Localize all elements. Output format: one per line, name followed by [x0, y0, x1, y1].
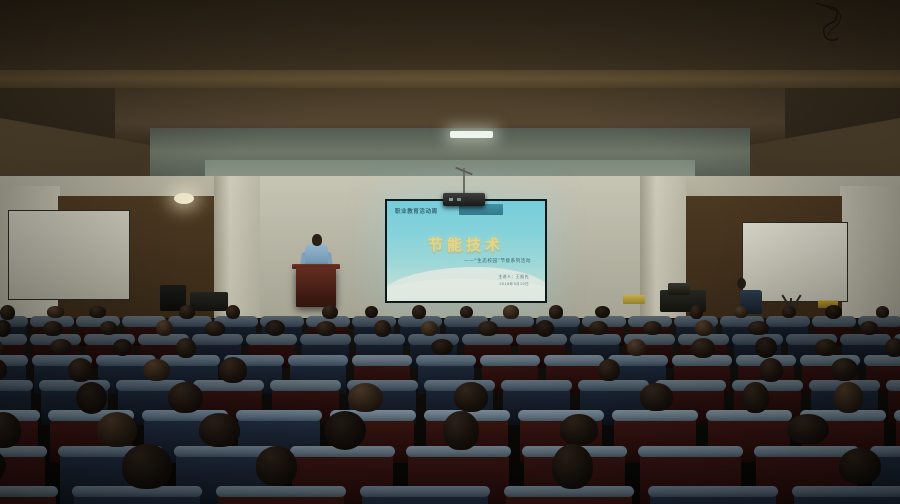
- audience-member-head: [759, 358, 783, 383]
- fluorescent-tube-icon: [450, 131, 493, 138]
- audience-member-head: [205, 321, 226, 336]
- audience-member-head: [219, 357, 247, 383]
- lectern: [296, 267, 336, 307]
- audience-member-head: [89, 306, 106, 317]
- audience-member-head: [815, 339, 838, 355]
- audience-member-head: [782, 306, 796, 318]
- audience-member-head: [113, 339, 132, 356]
- audience-member-head: [322, 305, 338, 319]
- audience-member-head: [643, 321, 662, 335]
- audience-member-head: [787, 414, 829, 444]
- audience-member-head: [536, 320, 555, 337]
- audience-member-head: [598, 359, 620, 382]
- audience-member-head: [589, 321, 608, 335]
- audience-member-head: [0, 305, 15, 320]
- audience-member-head: [199, 413, 240, 447]
- audience-member-head: [122, 444, 173, 489]
- audience-member-head: [226, 305, 240, 320]
- audience-member-head: [143, 359, 171, 381]
- audience-member-head: [168, 382, 203, 414]
- audience-member-head: [431, 339, 453, 355]
- pillar-far-right: [840, 186, 900, 328]
- projector-indicator: [457, 198, 461, 201]
- audience-member-head: [43, 321, 63, 336]
- blank-side-screen-left: [8, 210, 130, 300]
- audience-member-head: [156, 320, 173, 336]
- monitor-right: [668, 283, 690, 295]
- audience-member-head: [478, 321, 498, 336]
- audience-member-head: [374, 320, 391, 337]
- projection-screen: 职业教育活动周 节能技术 ——“生态校园”节能系列活动 主讲人：王振先 2016…: [385, 199, 547, 303]
- wall-lamp-icon: [174, 193, 194, 204]
- audience-member-head: [324, 411, 366, 450]
- auditorium-seat: [650, 492, 776, 504]
- audience-member-head: [365, 306, 378, 318]
- auditorium-seat: [218, 492, 344, 504]
- yellow-crate-centre: [623, 295, 645, 304]
- audience-member-head: [176, 338, 196, 358]
- audience-member-head: [421, 321, 438, 336]
- audience-member-head: [443, 411, 478, 450]
- slide-presenter-text: 主讲人：王振先: [498, 274, 529, 280]
- audience-member-head: [834, 382, 863, 412]
- audience-member-head: [552, 444, 593, 489]
- audience-member-head: [627, 339, 646, 356]
- auditorium-seat: [506, 492, 632, 504]
- audience-member-head: [755, 337, 778, 357]
- audience-member-head: [503, 305, 520, 318]
- audience-member-head: [831, 358, 858, 381]
- audience-member-head: [748, 321, 769, 335]
- slide-title-text: 节能技术: [387, 234, 545, 255]
- audience-member-head: [68, 358, 93, 383]
- audience-member-head: [47, 306, 64, 317]
- audience-member-head: [316, 321, 336, 336]
- audience-member-head: [876, 306, 890, 318]
- slide-date-text: 2016年5月10日: [499, 282, 529, 287]
- audience-member-head: [100, 321, 117, 335]
- auditorium-seat: [362, 492, 488, 504]
- audience-member-head: [885, 338, 900, 358]
- audience-member-head: [50, 339, 71, 355]
- audience-member-head: [97, 412, 137, 447]
- hanging-cable-coil-icon: [810, 2, 852, 46]
- auditorium-seat: [794, 492, 900, 504]
- presentation-slide: 职业教育活动周 节能技术 ——“生态校园”节能系列活动 主讲人：王振先 2016…: [387, 201, 545, 301]
- audience-member-head: [742, 382, 768, 413]
- audience-member-head: [179, 305, 195, 319]
- ceiling-upper-slab: [0, 0, 900, 78]
- audience-member-head: [691, 338, 715, 358]
- audience-member-head: [76, 382, 107, 414]
- auditorium-photo: 职业教育活动周 节能技术 ——“生态校园”节能系列活动 主讲人：王振先 2016…: [0, 0, 900, 504]
- equipment-case-left: [190, 292, 228, 311]
- audience-member-head: [560, 414, 598, 445]
- auditorium-seat: [74, 492, 200, 504]
- presenter-head: [312, 234, 322, 246]
- audience-member-head: [256, 446, 298, 486]
- audience-member-head: [348, 383, 383, 412]
- audience-member-head: [839, 448, 881, 484]
- audience-member-head: [454, 382, 488, 412]
- slide-header-text: 职业教育活动周: [395, 207, 438, 215]
- ceiling-projector-icon: [443, 193, 485, 206]
- audience-member-head: [825, 305, 841, 319]
- projector-lens: [449, 198, 453, 201]
- auditorium-seat: [0, 492, 56, 504]
- side-attendee-head: [737, 278, 746, 289]
- slide-subtitle-text: ——“生态校园”节能系列活动: [464, 258, 531, 264]
- audience-member-head: [640, 383, 673, 411]
- audience-member-head: [412, 305, 426, 319]
- audience-member-head: [549, 305, 564, 318]
- audience-member-head: [695, 320, 714, 336]
- audience-member-head: [860, 321, 878, 335]
